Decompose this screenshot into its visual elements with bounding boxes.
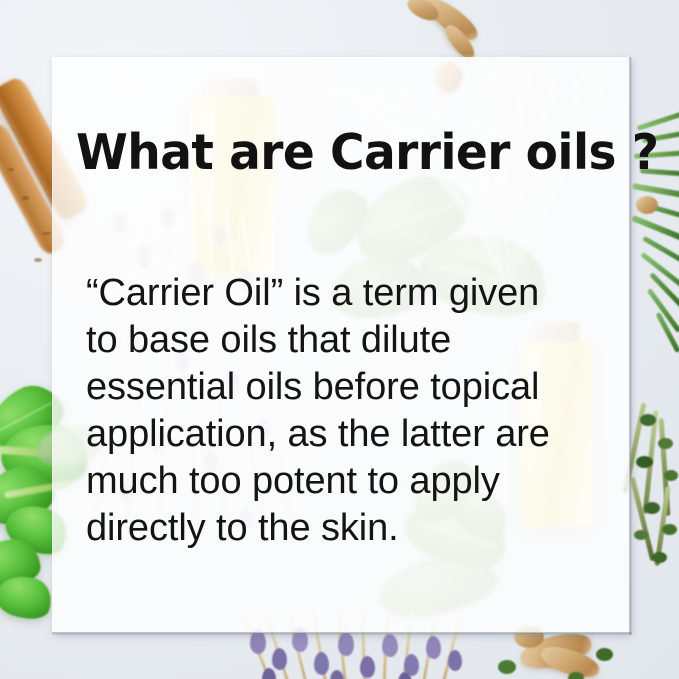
body-line: much too potent to apply (86, 458, 616, 505)
page-title: What are Carrier oils ? (76, 124, 658, 181)
body-line: to base oils that dilute (86, 317, 616, 364)
body-line: “Carrier Oil” is a term given (86, 270, 616, 317)
body-line: application, as the latter are (86, 411, 616, 458)
body-line: essential oils before topical (86, 364, 616, 411)
body-line: directly to the skin. (86, 505, 616, 552)
text-layer: What are Carrier oils ? “Carrier Oil” is… (0, 0, 679, 679)
graphic-canvas: What are Carrier oils ? “Carrier Oil” is… (0, 0, 679, 679)
body-paragraph: “Carrier Oil” is a term given to base oi… (86, 270, 616, 552)
